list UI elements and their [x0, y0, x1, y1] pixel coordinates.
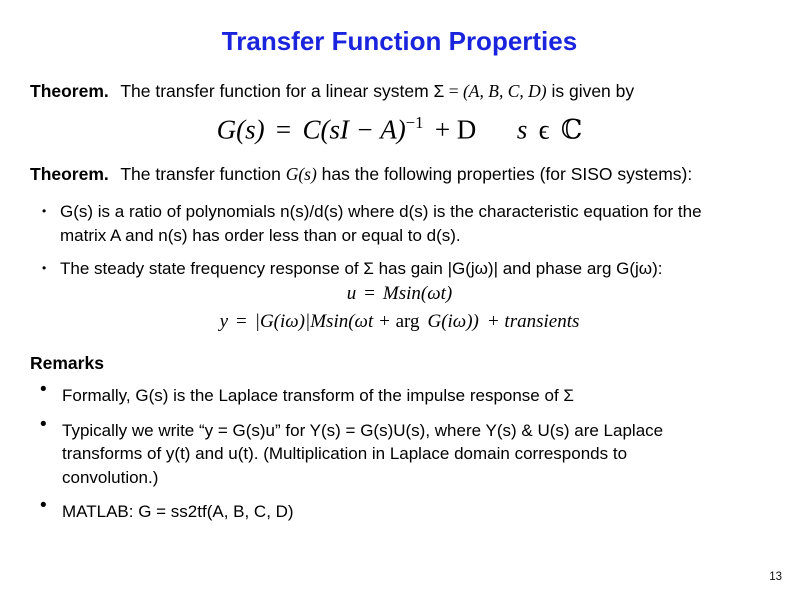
equation-3-tail: + transients [487, 311, 580, 332]
equation-3-arg-argument: G(iω)) [427, 311, 478, 332]
remarks-bullet-list: Formally, G(s) is the Laplace transform … [36, 384, 781, 535]
equation-1-rhs: C(sI − A) [302, 114, 405, 144]
system-tuple: (A, B, C, D) [463, 81, 547, 101]
theorem-1-text-before: The transfer function for a linear syste… [120, 81, 433, 101]
equation-2-lhs: u [347, 283, 357, 304]
bullet-line: transforms of y(t) and u(t). (Multiplica… [62, 442, 781, 466]
theorem-2-text-after: has the following properties (for SISO s… [317, 164, 692, 184]
theorem-2-line: Theorem. The transfer function G(s) has … [30, 163, 692, 185]
equation-3-equals: = [236, 311, 247, 332]
equation-1-domain-variable: s [517, 114, 528, 144]
equation-output-signal: y=|G(iω)|Msin(ωt + argG(iω))+ transients [0, 311, 799, 333]
list-item: Formally, G(s) is the Laplace transform … [36, 384, 781, 408]
equation-2-equals: = [364, 283, 375, 304]
sigma-symbol: Σ [434, 81, 445, 101]
equation-transfer-function: G(s)=C(sI − A)−1+ Dsϵℂ [0, 113, 799, 145]
bullet-line: Typically we write “y = G(s)u” for Y(s) … [62, 419, 781, 443]
element-of-icon: ϵ [539, 114, 550, 144]
slide-canvas: Transfer Function Properties Theorem. Th… [0, 0, 799, 599]
equation-3-lhs: y [220, 311, 228, 332]
arg-operator: arg [396, 311, 420, 332]
equation-1-lhs: G(s) [217, 114, 265, 144]
complex-set-symbol: ℂ [561, 114, 583, 145]
list-item: The steady state frequency response of Σ… [36, 257, 781, 281]
list-item: G(s) is a ratio of polynomials n(s)/d(s)… [36, 200, 781, 247]
theorem-1-label: Theorem. [30, 81, 109, 101]
equation-1-exponent: −1 [406, 113, 424, 132]
theorem-2-label: Theorem. [30, 164, 109, 184]
theorem-1-equals: = [444, 81, 463, 101]
list-item: Typically we write “y = G(s)u” for Y(s) … [36, 419, 781, 490]
theorem-2-text-before: The transfer function [120, 164, 285, 184]
theorem-1-text-after: is given by [547, 81, 635, 101]
page-number: 13 [769, 571, 782, 583]
page-title: Transfer Function Properties [0, 26, 799, 57]
bullet-line: MATLAB: G = ss2tf(A, B, C, D) [62, 500, 781, 524]
equation-3-msin: Msin(ωt + [310, 311, 395, 332]
equation-input-signal: u=Msin(ωt) [0, 283, 799, 305]
equation-1-equals: = [276, 114, 291, 144]
bullet-line: matrix A and n(s) has order less than or… [60, 224, 781, 248]
bullet-line: The steady state frequency response of Σ… [60, 257, 781, 281]
bullet-line: G(s) is a ratio of polynomials n(s)/d(s)… [60, 200, 781, 224]
remarks-heading: Remarks [30, 352, 104, 374]
equation-1-plus-d: + D [435, 114, 476, 144]
bullet-line: Formally, G(s) is the Laplace transform … [62, 384, 781, 408]
bullet-line: convolution.) [62, 466, 781, 490]
list-item: MATLAB: G = ss2tf(A, B, C, D) [36, 500, 781, 524]
transfer-function-symbol: G(s) [286, 164, 317, 184]
equation-2-rhs: Msin(ωt) [383, 283, 452, 304]
equation-3-gain: |G(iω)| [255, 311, 311, 332]
theorem-1-line: Theorem. The transfer function for a lin… [30, 80, 634, 102]
properties-bullet-list: G(s) is a ratio of polynomials n(s)/d(s)… [36, 200, 781, 291]
